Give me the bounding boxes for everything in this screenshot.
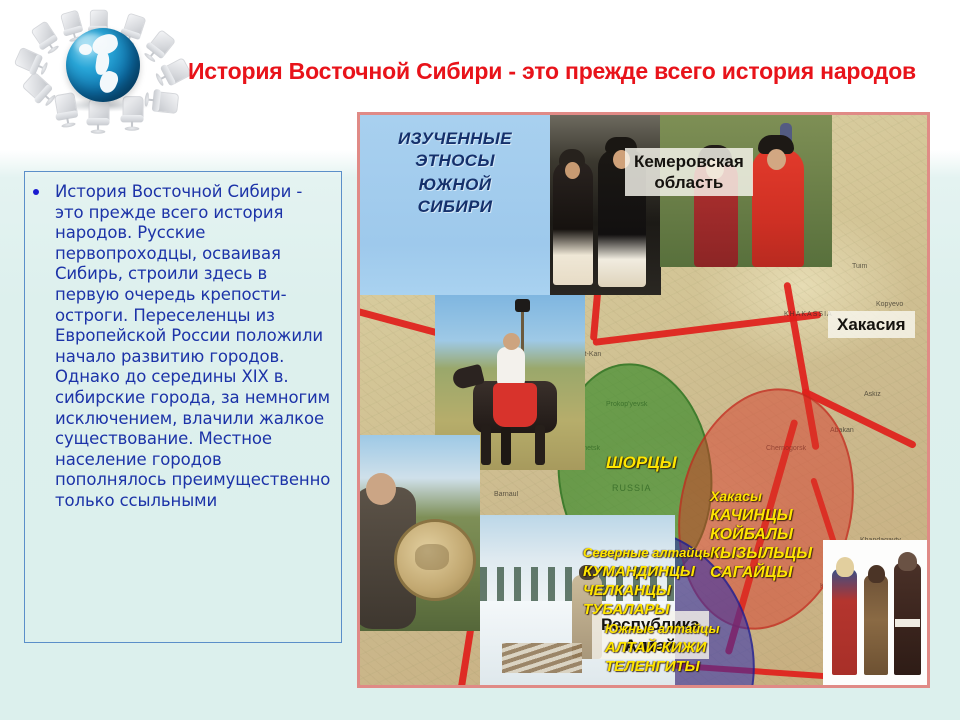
region-label-khakasia: Хакасия — [828, 311, 915, 338]
photo-altai-costume-group — [823, 540, 930, 685]
page-title: История Восточной Сибири - это прежде вс… — [132, 56, 916, 86]
map-toponym: Tuim — [852, 263, 867, 270]
map-toponym: KHAKASSIA — [784, 311, 833, 318]
content-textbox: История Восточной Сибири - это прежде вс… — [24, 171, 342, 643]
bullet-dot-icon — [33, 189, 39, 195]
map-toponym: Kopyevo — [876, 301, 903, 308]
chair-icon — [119, 96, 144, 132]
bullet-text: История Восточной Сибири - это прежде вс… — [55, 182, 333, 512]
caption-line-1: ИЗУЧЕННЫЕ ЭТНОСЫ — [360, 128, 550, 172]
map-toponym: Askiz — [864, 391, 881, 398]
collage-caption-panel: ИЗУЧЕННЫЕ ЭТНОСЫ ЮЖНОЙ СИБИРИ — [360, 115, 550, 295]
globe-icon — [66, 28, 140, 102]
ethnonyms-shor: ШОРЦЫ — [606, 453, 677, 472]
caption-line-2: ЮЖНОЙ СИБИРИ — [360, 174, 550, 218]
chair-icon — [142, 87, 179, 115]
bullet-list: История Восточной Сибири - это прежде вс… — [25, 172, 341, 512]
ethnic-map-collage: Tomsk Yudzhenek Verkh-Chebula Yashkino C… — [357, 112, 930, 688]
region-label-kemerovo: Кемеровская область — [625, 148, 753, 196]
chair-icon — [85, 99, 110, 135]
photo-shaman-with-drum — [360, 435, 480, 631]
slide-canvas: История Восточной Сибири - это прежде вс… — [0, 0, 960, 720]
photo-elderly-couple — [543, 115, 661, 295]
ethnonyms-altai: Северные алтайцы КУМАНДИНЦЫ ЧЕЛКАНЦЫ ТУБ… — [583, 543, 720, 676]
map-toponym: Barnaul — [494, 491, 518, 498]
list-item: История Восточной Сибири - это прежде вс… — [55, 182, 333, 512]
ethnonyms-khakas: Хакасы КАЧИНЦЫ КОЙБАЛЫ КЫЗЫЛЬЦЫ САГАЙЦЫ — [710, 487, 812, 582]
